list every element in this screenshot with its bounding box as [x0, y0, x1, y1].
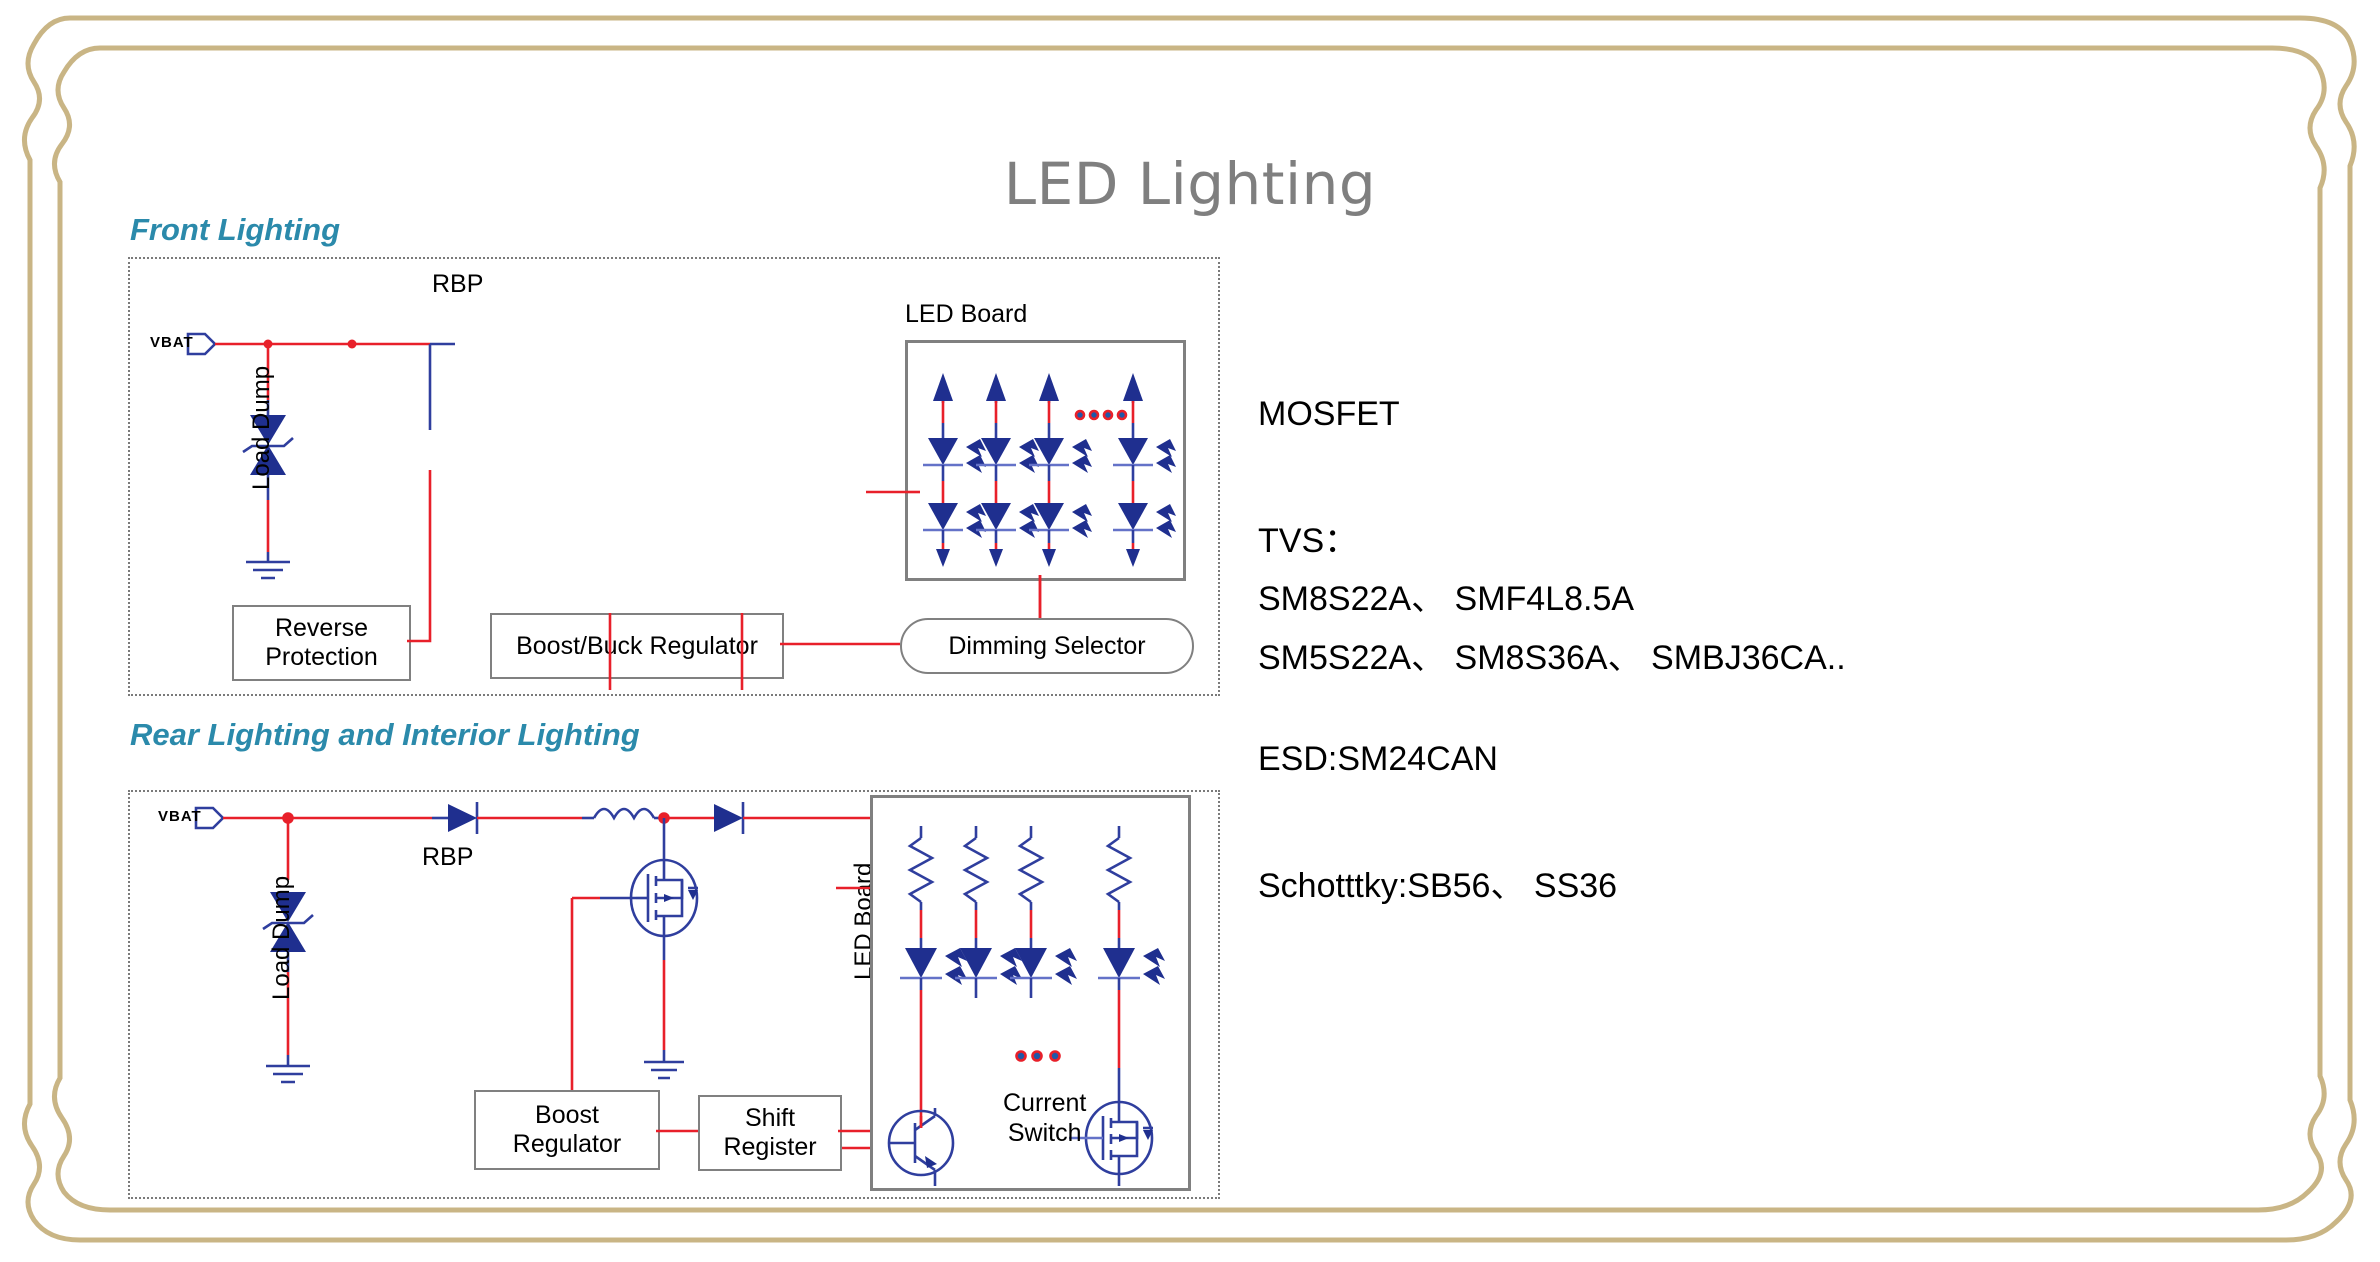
rear-vbat-label: VBAT: [158, 808, 202, 825]
parts-mosfet: MOSFET: [1258, 395, 1400, 434]
rear-load-dump-label: Load Dump: [268, 876, 296, 1000]
parts-tvs-title: TVS：: [1258, 513, 1358, 562]
parts-esd: ESD:SM24CAN: [1258, 740, 1498, 779]
rear-rbp-label: RBP: [422, 843, 473, 872]
parts-tvs-line-2: SM5S22A、 SM8S36A、 SMBJ36CA..: [1258, 630, 1846, 679]
parts-tvs-line-1: SM8S22A、 SMF4L8.5A: [1258, 571, 1634, 620]
slide-canvas: LED Lighting Front Lighting: [0, 0, 2380, 1262]
rear-block-wiring: [0, 0, 2380, 1262]
parts-schottky: Schotttky:SB56、 SS36: [1258, 858, 1617, 907]
